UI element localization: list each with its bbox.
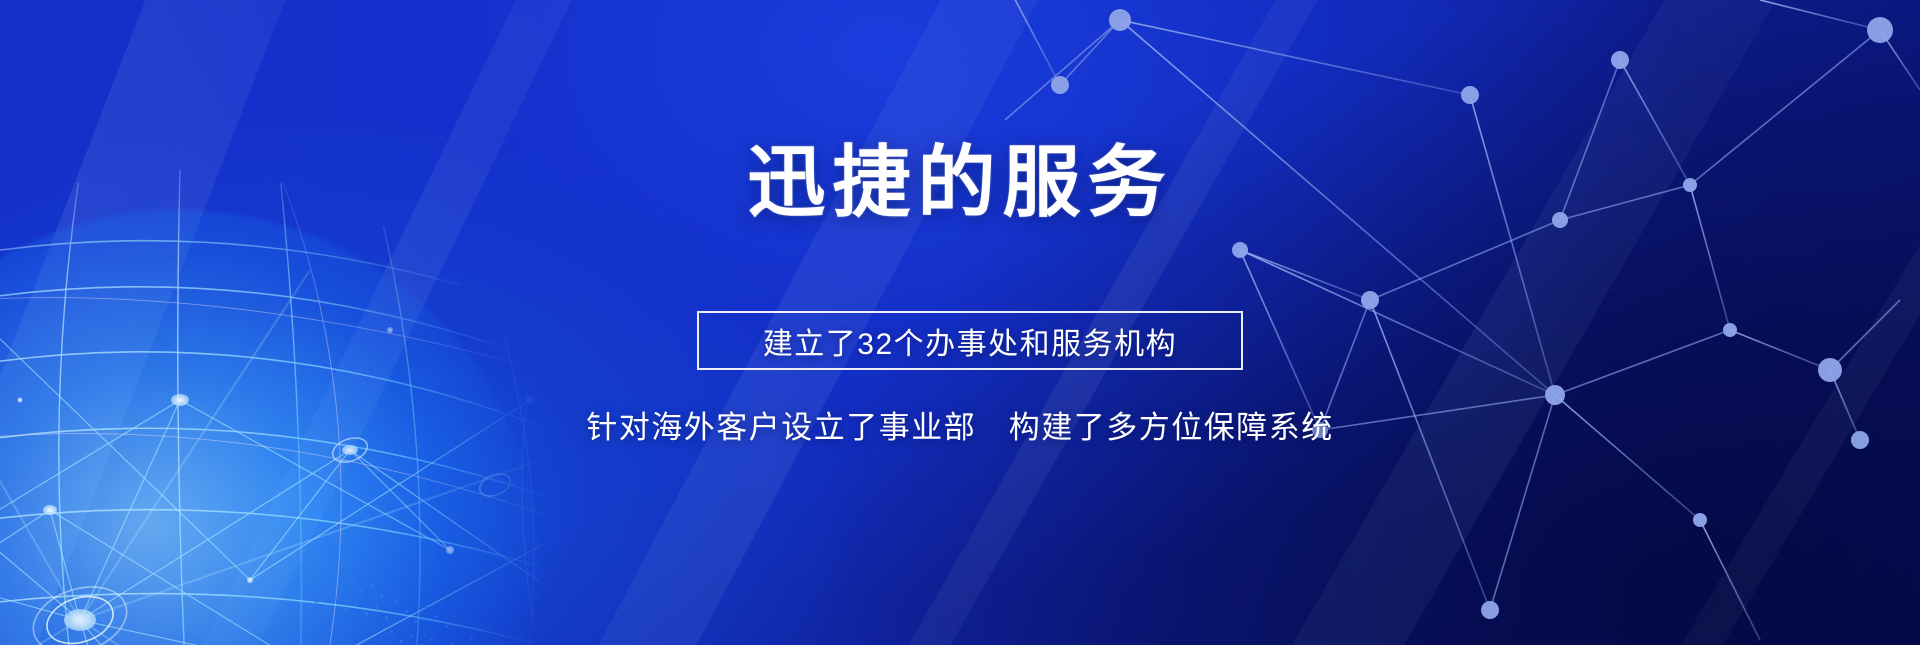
page-title: 迅捷的服务 (0, 142, 1920, 224)
banner-tagline: 针对海外客户设立了事业部 构建了多方位保障系统 (0, 402, 1920, 447)
highlight-box: 建立了32个办事处和服务机构 (697, 311, 1243, 370)
service-banner: 迅捷的服务 建立了32个办事处和服务机构 针对海外客户设立了事业部 构建了多方位… (0, 0, 1920, 645)
banner-content: 迅捷的服务 建立了32个办事处和服务机构 针对海外客户设立了事业部 构建了多方位… (0, 0, 1920, 645)
highlight-box-text: 建立了32个办事处和服务机构 (763, 319, 1177, 363)
